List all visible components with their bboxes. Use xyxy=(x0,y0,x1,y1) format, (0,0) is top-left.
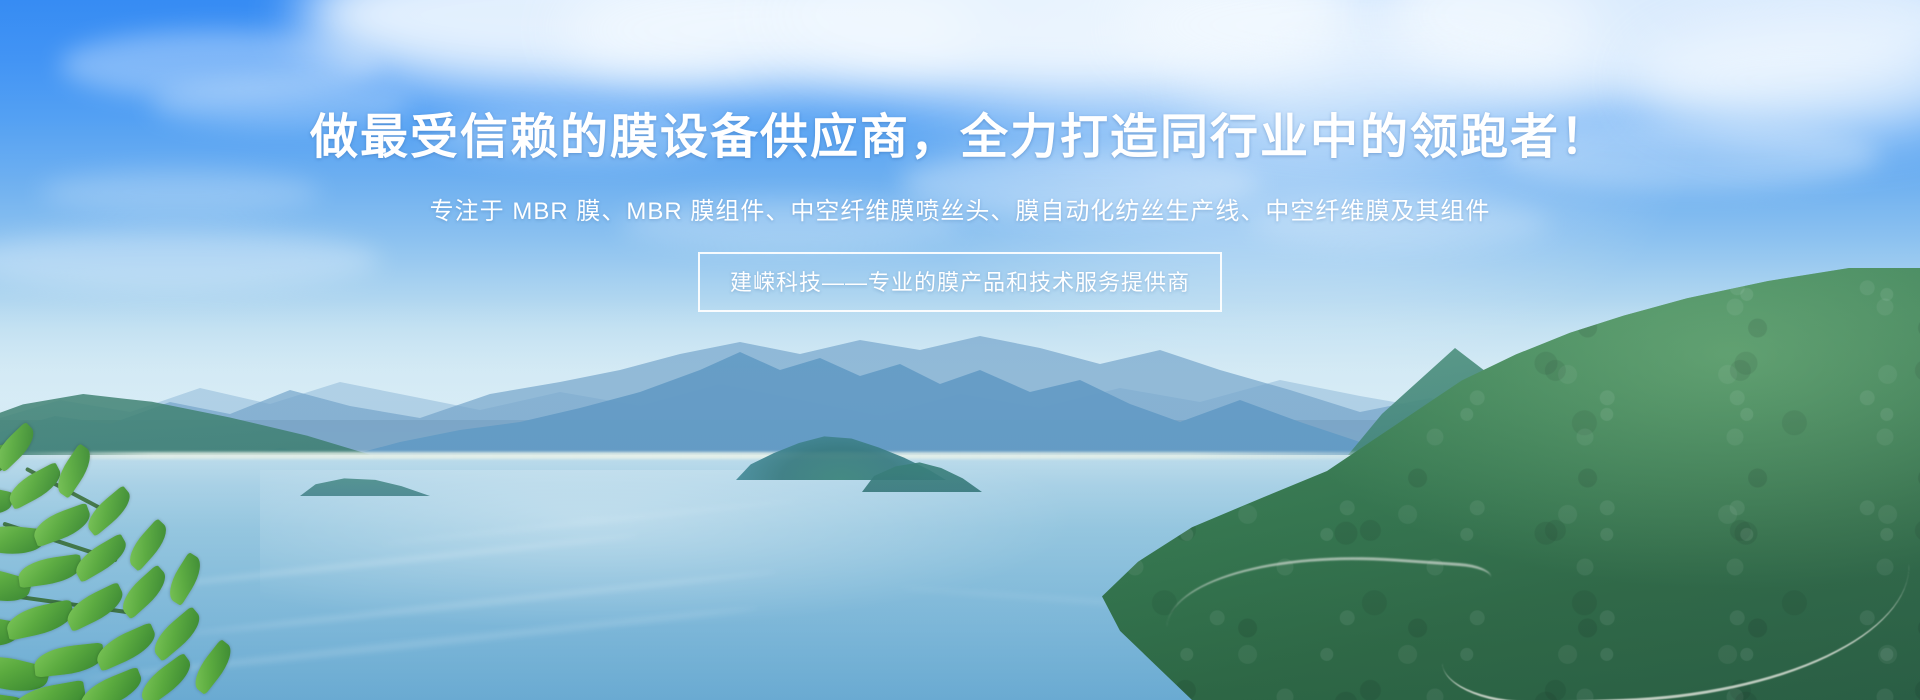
foreground-foliage xyxy=(0,430,290,700)
hero-banner: 做最受信赖的膜设备供应商，全力打造同行业中的领跑者！ 专注于 MBR 膜、MBR… xyxy=(0,0,1920,700)
banner-subheadline: 专注于 MBR 膜、MBR 膜组件、中空纤维膜喷丝头、膜自动化纺丝生产线、中空纤… xyxy=(430,191,1491,226)
banner-headline: 做最受信赖的膜设备供应商，全力打造同行业中的领跑者！ xyxy=(310,97,1610,167)
banner-tagline: 建嵘科技——专业的膜产品和技术服务提供商 xyxy=(730,270,1190,295)
tagline-box: 建嵘科技——专业的膜产品和技术服务提供商 xyxy=(698,252,1222,312)
cloud xyxy=(40,170,320,214)
